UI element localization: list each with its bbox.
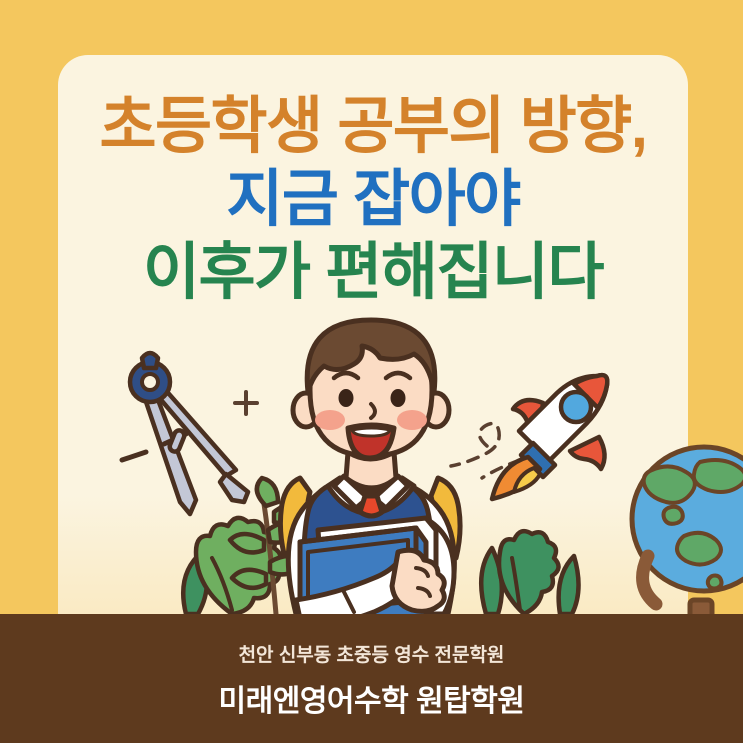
academy-name: 미래엔영어수학 원탑학원	[0, 676, 743, 720]
poster-canvas: 초등학생 공부의 방향, 지금 잡아야 이후가 편해집니다 천안 신부동 초중등…	[0, 0, 743, 743]
student-illustration	[280, 320, 460, 630]
plants-right	[481, 531, 578, 614]
academy-subtitle: 천안 신부동 초중등 영수 전문학원	[0, 640, 743, 667]
headline-line-3: 이후가 편해집니다	[58, 242, 688, 304]
headline-block: 초등학생 공부의 방향, 지금 잡아야 이후가 편해집니다	[58, 96, 688, 304]
footer-banner: 천안 신부동 초중등 영수 전문학원 미래엔영어수학 원탑학원	[0, 614, 743, 743]
compass-illustration	[122, 353, 248, 514]
headline-line-2: 지금 잡아야	[58, 169, 688, 231]
headline-line-1: 초등학생 공부의 방향,	[58, 96, 688, 158]
rocket-illustration	[492, 375, 607, 499]
plus-sparkle-icon	[235, 392, 257, 414]
